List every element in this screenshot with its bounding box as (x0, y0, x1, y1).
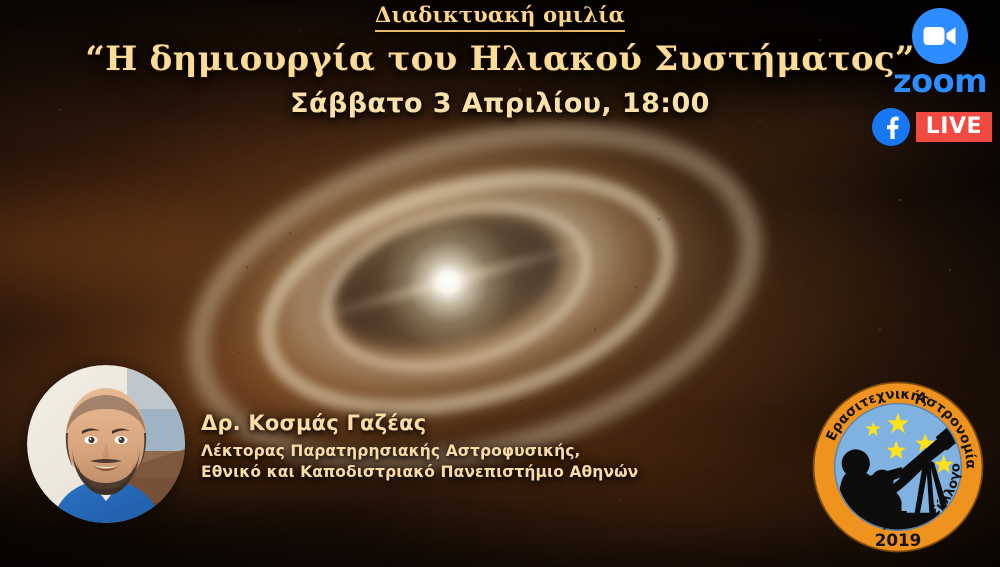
live-label: LIVE (916, 112, 992, 142)
page-title: “Η δημιουργία του Ηλιακού Συστήματος” (0, 41, 1000, 78)
webinar-poster: Διαδικτυακή ομιλία “Η δημιουργία του Ηλι… (0, 0, 1000, 567)
zoom-badge-circle (912, 8, 968, 64)
speaker-name: Δρ. Κοσμάς Γαζέας (201, 411, 638, 435)
speaker-role-line-1: Λέκτορας Παρατηρησιακής Αστροφυσικής, (201, 441, 638, 462)
speaker-info: Δρ. Κοσμάς Γαζέας Λέκτορας Παρατηρησιακή… (201, 411, 638, 484)
avatar (27, 365, 185, 523)
logo-year: 2019 (875, 530, 922, 550)
headline-block: Διαδικτυακή ομιλία “Η δημιουργία του Ηλι… (0, 2, 1000, 119)
facebook-live-badge[interactable]: LIVE (872, 108, 992, 146)
zoom-wordmark: zoom (888, 66, 992, 96)
video-camera-icon (923, 25, 957, 47)
zoom-logo[interactable]: zoom (888, 8, 992, 96)
club-emblem: Ερασιτεχνικής Αστρονομίας Σύλλογος Βοιωτ… (810, 379, 986, 555)
event-datetime: Σάββατο 3 Απριλίου, 18:00 (0, 88, 1000, 119)
facebook-badge-circle (872, 108, 910, 146)
speaker-role-line-2: Εθνικό και Καποδιστριακό Πανεπιστήμιο Αθ… (201, 462, 638, 483)
speaker-portrait-photo (27, 365, 185, 523)
astronomy-club-logo[interactable]: Ερασιτεχνικής Αστρονομίας Σύλλογος Βοιωτ… (810, 379, 986, 555)
facebook-f-icon (880, 115, 902, 139)
eyebrow-label: Διαδικτυακή ομιλία (375, 2, 625, 32)
speaker-role: Λέκτορας Παρατηρησιακής Αστροφυσικής, Εθ… (201, 441, 638, 484)
